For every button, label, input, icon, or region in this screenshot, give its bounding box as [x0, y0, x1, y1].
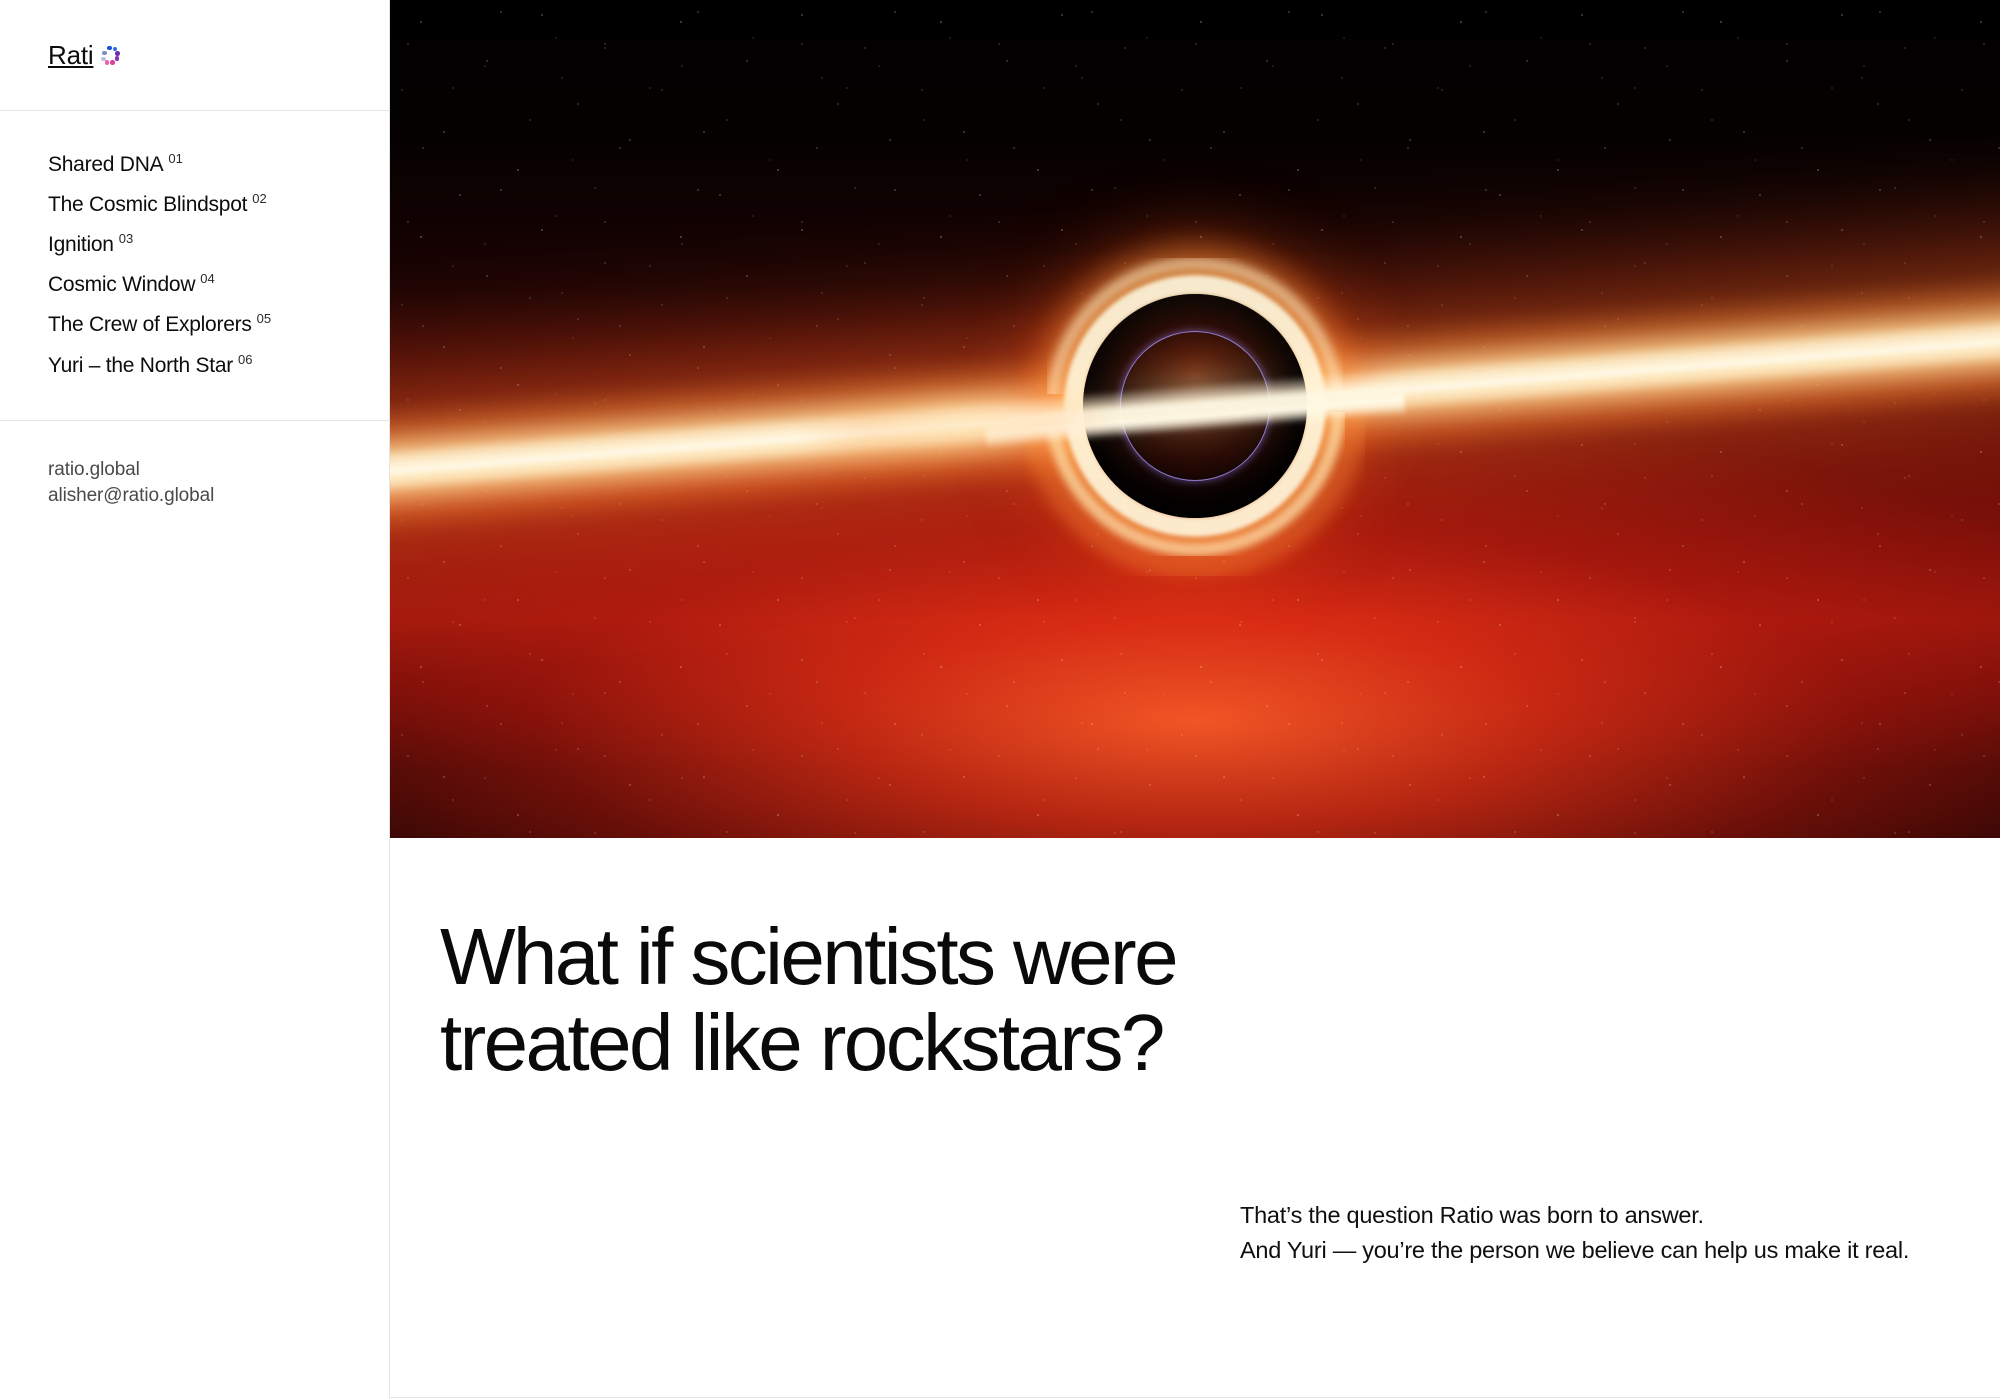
- main-column: What if scientists were treated like roc…: [390, 0, 2000, 1398]
- nav-item-number: 03: [119, 231, 133, 246]
- nav-item-number: 01: [168, 151, 182, 166]
- sidebar-item-ignition[interactable]: Ignition03: [48, 223, 341, 263]
- brand-logo[interactable]: Rati: [48, 42, 121, 68]
- brand-block: Rati: [0, 0, 389, 111]
- hero-vignette: [390, 0, 2000, 838]
- nav-item-number: 05: [257, 311, 271, 326]
- nav-item-number: 04: [200, 271, 214, 286]
- ratio-dot-cluster-icon: [99, 45, 121, 67]
- sidebar-item-the-crew-of-explorers[interactable]: The Crew of Explorers05: [48, 304, 341, 344]
- intro-line-2: And Yuri — you’re the person we believe …: [1240, 1233, 1920, 1267]
- nav-item-label: The Cosmic Blindspot: [48, 193, 247, 216]
- page-title: What if scientists were treated like roc…: [440, 914, 1200, 1397]
- brand-wordmark: Rati: [48, 42, 93, 68]
- page-root: Rati Shared DNA01 The Cosmic Blindspot02…: [0, 0, 2000, 1398]
- nav-item-number: 02: [252, 191, 266, 206]
- nav-item-label: Shared DNA: [48, 153, 163, 176]
- sidebar-item-cosmic-window[interactable]: Cosmic Window04: [48, 264, 341, 304]
- intro-section: What if scientists were treated like roc…: [390, 838, 2000, 1398]
- nav-item-number: 06: [238, 352, 252, 367]
- nav-item-label: Ignition: [48, 233, 114, 256]
- sidebar-item-shared-dna[interactable]: Shared DNA01: [48, 143, 341, 183]
- nav-item-label: Yuri – the North Star: [48, 354, 233, 377]
- nav-item-label: Cosmic Window: [48, 273, 195, 296]
- sidebar-nav: Shared DNA01 The Cosmic Blindspot02 Igni…: [0, 111, 389, 421]
- intro-line-1: That’s the question Ratio was born to an…: [1240, 1198, 1920, 1232]
- sidebar-item-yuri-the-north-star[interactable]: Yuri – the North Star06: [48, 344, 341, 384]
- email-link[interactable]: alisher@ratio.global: [48, 483, 341, 509]
- nav-item-label: The Crew of Explorers: [48, 313, 252, 336]
- sidebar: Rati Shared DNA01 The Cosmic Blindspot02…: [0, 0, 390, 1398]
- sidebar-item-the-cosmic-blindspot[interactable]: The Cosmic Blindspot02: [48, 183, 341, 223]
- intro-paragraph: That’s the question Ratio was born to an…: [1240, 1198, 1920, 1397]
- contact-block: ratio.global alisher@ratio.global: [0, 421, 389, 509]
- website-link[interactable]: ratio.global: [48, 457, 341, 483]
- hero-black-hole-image: [390, 0, 2000, 838]
